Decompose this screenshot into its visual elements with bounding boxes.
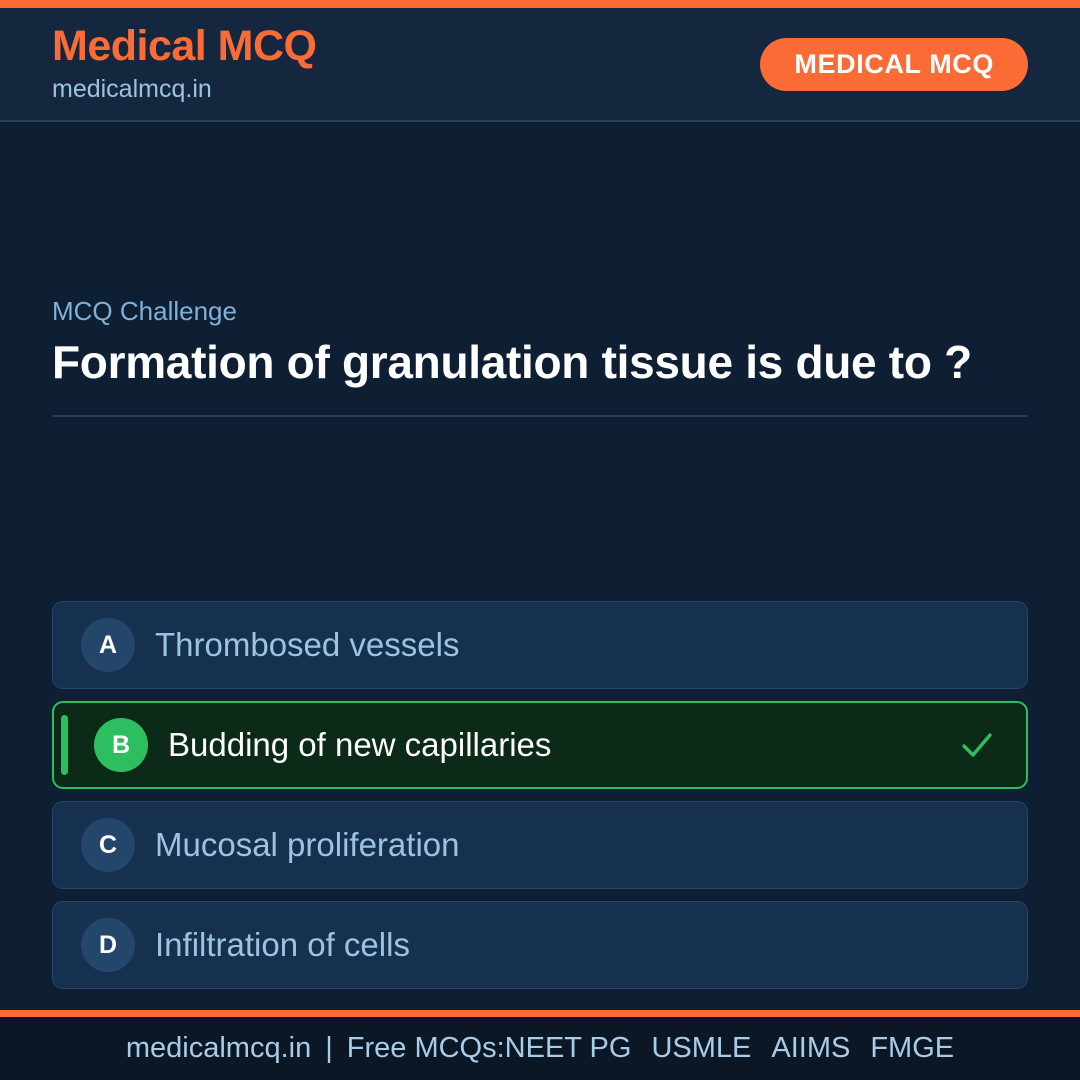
header-badge: MEDICAL MCQ (760, 38, 1028, 91)
top-accent-bar (0, 0, 1080, 8)
footer-separator: | (311, 1032, 347, 1065)
option-d[interactable]: D Infiltration of cells (52, 901, 1028, 989)
option-letter-badge: A (81, 618, 135, 672)
footer-label: Free MCQs: (347, 1032, 505, 1065)
brand-title: Medical MCQ (52, 24, 317, 69)
question-eyebrow: MCQ Challenge (52, 296, 1028, 327)
correct-accent-bar (61, 715, 68, 775)
option-letter-badge: D (81, 918, 135, 972)
option-letter-badge: B (94, 718, 148, 772)
option-label: Budding of new capillaries (168, 727, 958, 763)
question-text: Formation of granulation tissue is due t… (52, 337, 1028, 389)
brand: Medical MCQ medicalmcq.in (52, 24, 317, 103)
footer-tag-fmge: FMGE (870, 1032, 954, 1065)
footer-tag-usmle: USMLE (651, 1032, 751, 1065)
option-label: Mucosal proliferation (155, 827, 997, 863)
option-c[interactable]: C Mucosal proliferation (52, 801, 1028, 889)
option-label: Infiltration of cells (155, 927, 997, 963)
footer-tag-aiims: AIIMS (771, 1032, 850, 1065)
bottom-accent-bar (0, 1010, 1080, 1017)
check-icon (958, 726, 996, 764)
header: Medical MCQ medicalmcq.in MEDICAL MCQ (0, 8, 1080, 122)
question-divider (52, 415, 1028, 417)
question-block: MCQ Challenge Formation of granulation t… (52, 296, 1028, 417)
options-list: A Thrombosed vessels B Budding of new ca… (52, 601, 1028, 989)
footer-exam-tags: NEET PG USMLE AIIMS FMGE (505, 1032, 954, 1065)
option-letter-badge: C (81, 818, 135, 872)
mcq-card: Medical MCQ medicalmcq.in MEDICAL MCQ MC… (0, 0, 1080, 1080)
option-b[interactable]: B Budding of new capillaries (52, 701, 1028, 789)
main-content: MCQ Challenge Formation of granulation t… (0, 122, 1080, 1010)
footer: medicalmcq.in | Free MCQs: NEET PG USMLE… (0, 1017, 1080, 1080)
option-label: Thrombosed vessels (155, 627, 997, 663)
footer-site: medicalmcq.in (126, 1032, 311, 1065)
brand-subtitle: medicalmcq.in (52, 74, 317, 104)
footer-tag-neetpg: NEET PG (505, 1032, 632, 1065)
option-a[interactable]: A Thrombosed vessels (52, 601, 1028, 689)
